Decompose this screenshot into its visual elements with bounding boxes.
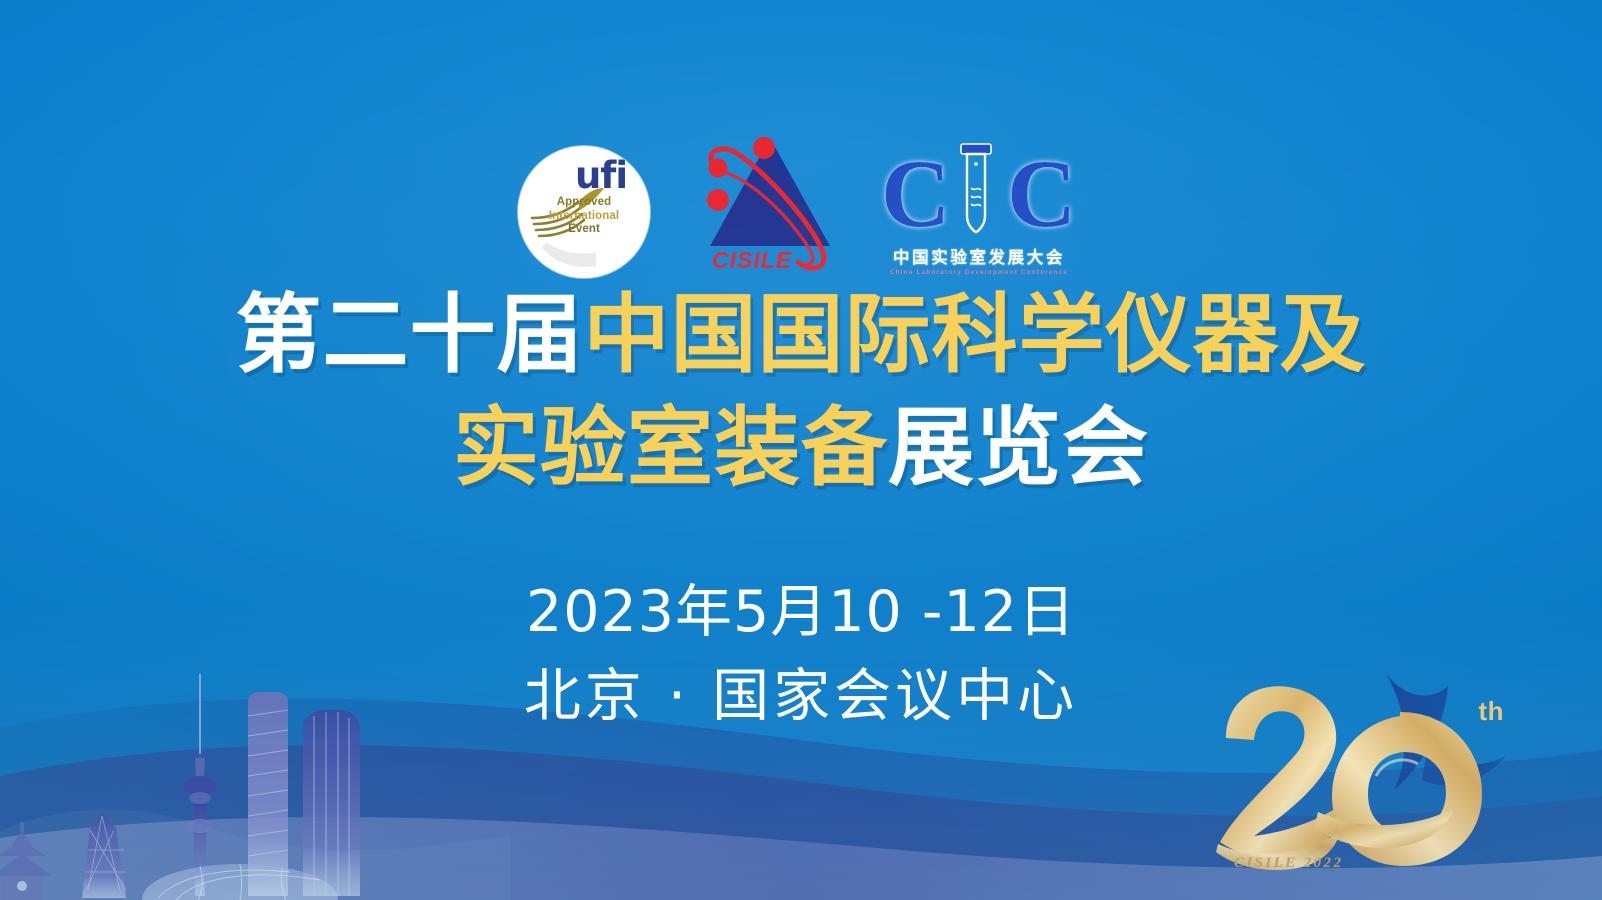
headline-line2-gold: 实验室装备 xyxy=(453,398,888,498)
anniversary-caption: CISILE 2022 xyxy=(1234,855,1343,872)
cic-chinese-name: 中国实验室发展大会 xyxy=(893,250,1065,267)
anniversary-emblem: th CISILE 2022 xyxy=(1190,660,1510,890)
event-poster: ufi Approved International Event CISILE xyxy=(0,0,1602,900)
svg-text:C: C xyxy=(881,142,950,247)
logo-row: ufi Approved International Event CISILE xyxy=(0,118,1602,278)
headline-line1-gold: 中国国际科学仪器及 xyxy=(584,285,1367,385)
cic-svg: C C xyxy=(879,142,1079,250)
headline-line-2: 实验室装备展览会 xyxy=(0,401,1602,496)
cic-logo: C C 中国实验室发展大会 China Laboratory Developme… xyxy=(874,126,1084,278)
ufi-tagline-line1: Approved xyxy=(525,196,643,210)
headline-line-1: 第二十届中国国际科学仪器及 xyxy=(0,288,1602,383)
svg-text:C: C xyxy=(1007,142,1076,247)
cisile-logo: CISILE xyxy=(672,128,852,278)
event-date: 2023年5月10 -12日 xyxy=(0,578,1602,648)
ufi-tagline-line3: Event xyxy=(525,223,643,237)
test-tube-icon xyxy=(961,144,991,232)
cisile-triangle-icon: CISILE xyxy=(672,128,852,278)
headline-line2-white: 展览会 xyxy=(888,398,1149,498)
cic-wordmark-icon: C C xyxy=(879,142,1079,250)
page-title: 第二十届中国国际科学仪器及 实验室装备展览会 xyxy=(0,288,1602,495)
headline-edition: 第二十届 xyxy=(236,285,584,385)
ufi-tagline-line2: International xyxy=(525,210,643,224)
svg-text:CISILE: CISILE xyxy=(712,247,792,273)
ufi-logo: ufi Approved International Event xyxy=(518,146,650,278)
cic-english-name: China Laboratory Development Conference xyxy=(890,270,1068,276)
anniversary-ordinal: th xyxy=(1478,696,1504,727)
ufi-wordmark: ufi xyxy=(575,157,627,194)
ufi-tagline: Approved International Event xyxy=(525,196,643,237)
